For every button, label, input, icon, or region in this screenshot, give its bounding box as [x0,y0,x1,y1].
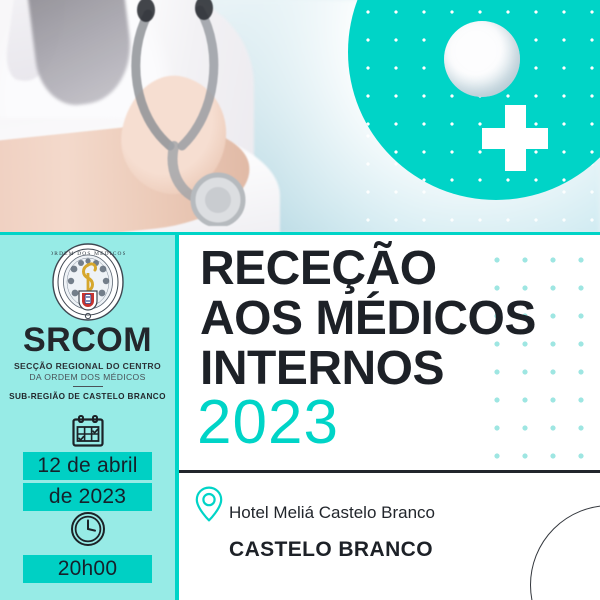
page-title: RECEÇÃO AOS MÉDICOS INTERNOS [200,244,560,394]
clock-icon [70,511,106,547]
brand-subtitle-1: SECÇÃO REGIONAL DO CENTRO [0,361,175,371]
vertical-teal-rule [175,235,179,600]
time-value: 20h00 [23,555,152,583]
event-date: 12 de abril de 2023 [23,452,152,511]
brand-divider [73,386,103,387]
event-time: 20h00 [23,555,152,583]
event-year: 2023 [197,392,339,454]
circular-photo-cutout [444,21,520,97]
brand-subtitle-3: SUB-REGIÃO DE CASTELO BRANCO [0,392,175,401]
headline-line-1: RECEÇÃO [200,244,560,294]
map-pin-icon [194,485,224,523]
date-line-1: 12 de abril [23,452,152,480]
venue-name: Hotel Meliá Castelo Branco [229,503,435,523]
brand-subtitle-2: DA ORDEM DOS MÉDICOS [0,372,175,382]
calendar-icon [71,415,105,447]
circle-outline-decoration [530,505,600,600]
brand-block: SRCOM SECÇÃO REGIONAL DO CENTRO DA ORDEM… [0,323,175,401]
svg-text:ORDEM DOS MEDICOS: ORDEM DOS MEDICOS [51,251,125,257]
teal-circle-graphic [348,0,600,200]
section-divider [179,470,600,473]
sidebar-panel: ORDEM DOS MEDICOS SRCOM SECÇÃO REGIONAL … [0,235,175,600]
medical-cross-icon [482,105,548,171]
headline-line-3: INTERNOS [200,344,560,394]
main-panel: RECEÇÃO AOS MÉDICOS INTERNOS 2023 Hotel … [179,235,600,600]
brand-title: SRCOM [0,323,175,357]
date-line-2: de 2023 [23,483,152,511]
hero-photo [0,0,600,234]
headline-line-2: AOS MÉDICOS [200,294,560,344]
horizontal-teal-rule [0,232,600,235]
event-poster: ORDEM DOS MEDICOS SRCOM SECÇÃO REGIONAL … [0,0,600,600]
city-name: CASTELO BRANCO [229,538,433,562]
stethoscope-icon [96,0,296,226]
ordem-dos-medicos-crest-icon: ORDEM DOS MEDICOS [51,243,125,325]
